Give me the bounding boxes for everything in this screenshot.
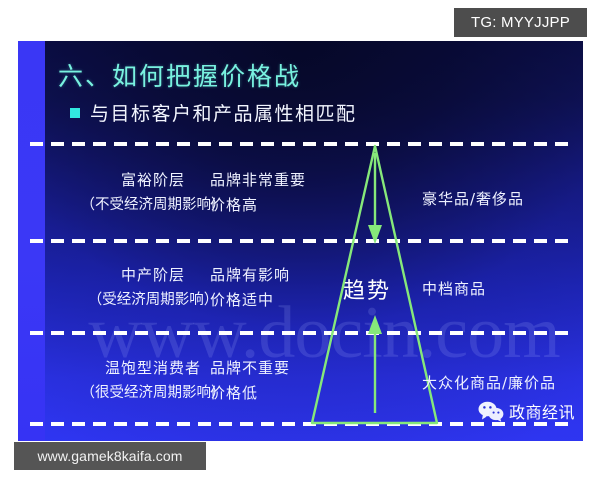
row-3-product-type: 大众化商品/廉价品 — [422, 371, 582, 396]
row-1-product-type: 豪华品/奢侈品 — [422, 187, 582, 212]
bullet-square-icon — [70, 108, 80, 118]
row-1-brand-attribute: 品牌非常重要 — [210, 168, 350, 193]
down-arrow-icon — [368, 153, 382, 244]
row-2-brand-attribute: 品牌有影响 — [210, 263, 350, 288]
row-3-attribute-block: 品牌不重要 价格低 — [210, 356, 350, 406]
screenshot-page: TG: MYYJJPP www.gamek8kaifa.com www.doci… — [0, 0, 600, 480]
site-url-badge: www.gamek8kaifa.com — [14, 442, 206, 470]
dashed-divider-lower-middle — [30, 331, 575, 335]
wechat-account-name: 政商经讯 — [509, 399, 575, 423]
row-3-brand-attribute: 品牌不重要 — [210, 356, 350, 381]
slide-subtitle-text: 与目标客户和产品属性相匹配 — [90, 99, 357, 126]
wechat-credit-row: 政商经讯 — [478, 399, 575, 423]
row-2-price-attribute: 价格适中 — [210, 288, 350, 313]
wechat-icon — [478, 401, 504, 422]
row-2-product-type: 中档商品 — [422, 277, 582, 302]
row-1-price-attribute: 价格高 — [210, 193, 350, 218]
dashed-divider-upper-middle — [30, 239, 575, 243]
row-3-price-attribute: 价格低 — [210, 381, 350, 406]
row-2-attribute-block: 品牌有影响 价格适中 — [210, 263, 350, 313]
slide-subtitle-row: 与目标客户和产品属性相匹配 — [70, 99, 357, 126]
dashed-divider-top — [30, 142, 575, 146]
row-1-attribute-block: 品牌非常重要 价格高 — [210, 168, 350, 218]
trend-label: 趋势 — [343, 273, 391, 305]
tg-watermark-badge: TG: MYYJJPP — [454, 8, 587, 37]
presentation-slide: www.docin.com 六、如何把握价格战 与目标客户和产品属性相匹配 趋势… — [18, 41, 583, 441]
slide-title: 六、如何把握价格战 — [58, 57, 301, 93]
